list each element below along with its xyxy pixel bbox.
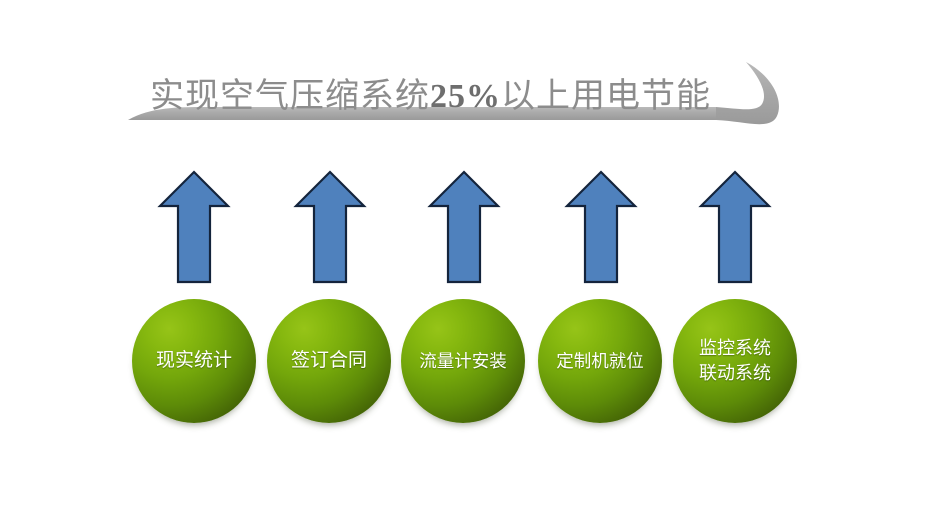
title-banner: 实现空气压缩系统25%以上用电节能 <box>0 30 945 145</box>
title-text-before: 实现空气压缩系统 <box>150 78 430 115</box>
page-title: 实现空气压缩系统25%以上用电节能 <box>150 76 750 118</box>
presentation-slide: 实现空气压缩系统25%以上用电节能 <box>0 0 945 529</box>
step-circle-4[interactable]: 定制机就位 <box>538 299 662 423</box>
arrow-up-4 <box>563 168 639 286</box>
arrow-up-2 <box>292 168 368 286</box>
step-label-5: 监控系统 联动系统 <box>695 336 775 386</box>
step-label-1: 现实统计 <box>152 349 236 373</box>
step-circle-5[interactable]: 监控系统 联动系统 <box>673 299 797 423</box>
title-text-after: 以上用电节能 <box>501 78 711 115</box>
arrow-up-1 <box>156 168 232 286</box>
arrow-row <box>0 168 945 290</box>
arrow-up-5 <box>697 168 773 286</box>
step-circle-2[interactable]: 签订合同 <box>267 299 391 423</box>
step-label-3: 流量计安装 <box>415 350 511 373</box>
step-circle-1[interactable]: 现实统计 <box>132 299 256 423</box>
step-label-2: 签订合同 <box>287 349 371 373</box>
arrow-up-3 <box>426 168 502 286</box>
step-circle-3[interactable]: 流量计安装 <box>401 299 525 423</box>
title-highlight-percent: 25% <box>430 78 501 115</box>
step-label-4: 定制机就位 <box>552 350 648 373</box>
step-circle-row: 现实统计 签订合同 流量计安装 定制机就位 监控系统 联动系统 <box>0 299 945 431</box>
